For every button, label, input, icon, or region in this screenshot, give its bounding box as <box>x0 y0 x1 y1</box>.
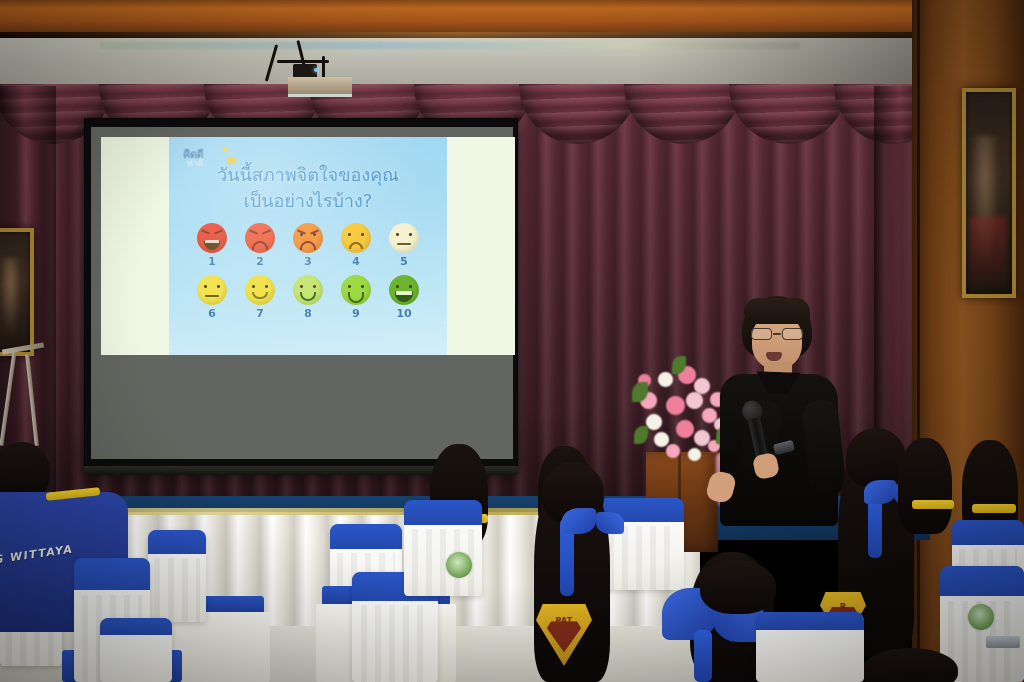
chair-sash <box>74 558 150 590</box>
chair-sash <box>148 530 206 554</box>
chair-sash <box>940 566 1024 596</box>
flower <box>676 420 694 438</box>
mood-option-8: 8 <box>291 275 325 320</box>
curtain-swag <box>729 84 847 144</box>
mood-number: 10 <box>387 307 421 320</box>
mood-face-icon <box>293 275 323 305</box>
chair-sash <box>100 618 172 635</box>
mood-face-icon <box>389 223 419 253</box>
mood-option-1: 1 <box>195 223 229 268</box>
framed-portrait-left <box>0 228 34 356</box>
flower <box>666 396 685 415</box>
slide-title-line1: วันนี้สภาพจิตใจของคุณ <box>169 163 447 189</box>
portrait-robe <box>970 217 1006 286</box>
mood-scale-row-1: 12345 <box>169 223 447 268</box>
screen-surface: คิดดี ทำดี วันนี้สภาพจิตใจของคุณ เป็นอย่… <box>91 127 513 459</box>
mood-face-icon <box>197 223 227 253</box>
photo-scene: คิดดี ทำดี วันนี้สภาพจิตใจของคุณ เป็นอย่… <box>0 0 1024 682</box>
mood-number: 8 <box>291 307 325 320</box>
flower <box>654 432 669 447</box>
projector-mount-plate <box>288 77 352 97</box>
mood-option-5: 5 <box>387 223 421 268</box>
chair-sash <box>404 500 482 525</box>
slide-title-line2: เป็นอย่างไรบ้าง? <box>169 189 447 215</box>
mood-number: 9 <box>339 307 373 320</box>
mood-face-icon <box>293 223 323 253</box>
collar-trim <box>912 500 954 509</box>
mood-option-3: 3 <box>291 223 325 268</box>
presenter-fringe <box>744 298 810 324</box>
student-head <box>846 428 906 488</box>
mood-number: 7 <box>243 307 277 320</box>
flower <box>666 444 680 458</box>
slide-title: วันนี้สภาพจิตใจของคุณ เป็นอย่างไรบ้าง? <box>169 163 447 215</box>
mood-scale: 12345 678910 <box>169 223 447 327</box>
mood-face-icon <box>341 275 371 305</box>
chair-school-logo <box>446 552 472 578</box>
mood-number: 6 <box>195 307 229 320</box>
chair <box>148 530 206 622</box>
projected-image-area: คิดดี ทำดี วันนี้สภาพจิตใจของคุณ เป็นอย่… <box>101 137 515 355</box>
slide-logo-dot-icon <box>223 147 228 152</box>
mood-option-6: 6 <box>195 275 229 320</box>
mood-number: 5 <box>387 255 421 268</box>
portrait-figure <box>1 258 22 337</box>
chair-sash <box>952 520 1024 545</box>
flower <box>658 372 673 387</box>
easel-stand <box>0 340 62 450</box>
leaf <box>634 426 648 444</box>
curtain-swag <box>624 84 742 144</box>
mood-option-9: 9 <box>339 275 373 320</box>
flower <box>646 414 662 430</box>
mood-number: 2 <box>243 255 277 268</box>
mood-scale-row-2: 678910 <box>169 275 447 320</box>
presentation-slide: คิดดี ทำดี วันนี้สภาพจิตใจของคุณ เป็นอย่… <box>169 137 447 355</box>
mood-face-icon <box>341 223 371 253</box>
projector-status-led <box>314 68 319 72</box>
chair-skirt <box>154 558 200 622</box>
flower <box>688 448 701 461</box>
chair-sash <box>756 612 864 630</box>
chair <box>756 612 864 682</box>
hair-ribbon-bow <box>864 480 896 504</box>
curtain-swag <box>519 84 637 144</box>
mood-option-4: 4 <box>339 223 373 268</box>
mood-option-10: 10 <box>387 275 421 320</box>
presenter <box>712 296 844 526</box>
mood-number: 3 <box>291 255 325 268</box>
mood-face-icon <box>245 223 275 253</box>
student-head-foreground <box>700 560 776 614</box>
glasses-icon <box>750 328 804 340</box>
chair-sash <box>330 524 402 549</box>
flower <box>686 392 703 409</box>
collar-trim <box>972 504 1016 513</box>
projection-screen: คิดดี ทำดี วันนี้สภาพจิตใจของคุณ เป็นอย่… <box>84 118 518 470</box>
mood-option-2: 2 <box>243 223 277 268</box>
mood-number: 1 <box>195 255 229 268</box>
mood-face-icon <box>197 275 227 305</box>
chair-school-logo <box>968 604 994 630</box>
hair-ribbon-bow <box>596 512 624 534</box>
chair-skirt <box>361 605 430 682</box>
mood-face-icon <box>389 275 419 305</box>
mood-option-7: 7 <box>243 275 277 320</box>
framed-portrait-right <box>962 88 1016 298</box>
chair <box>100 618 172 682</box>
hair-ribbon-bow <box>562 508 596 534</box>
mood-face-icon <box>245 275 275 305</box>
wood-ceiling-trim <box>0 0 1024 38</box>
mood-number: 4 <box>339 255 373 268</box>
mobile-phone <box>986 636 1020 648</box>
